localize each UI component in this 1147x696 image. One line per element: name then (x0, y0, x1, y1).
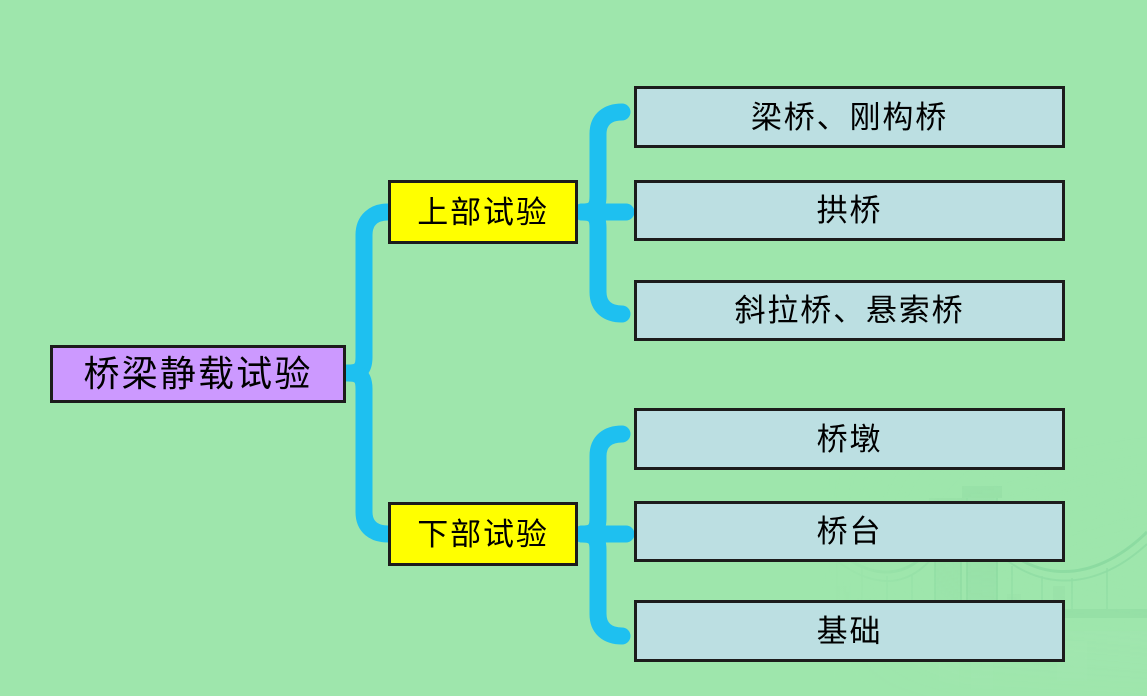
connector-upper-brace-bottom (582, 212, 622, 314)
node-root[interactable]: 桥梁静载试验 (50, 345, 346, 403)
node-leaf-label: 桥台 (817, 516, 883, 547)
node-branch-lower-label: 下部试验 (417, 519, 548, 550)
node-branch-upper[interactable]: 上部试验 (388, 180, 578, 244)
node-leaf-abutment[interactable]: 桥台 (634, 501, 1065, 562)
node-branch-lower[interactable]: 下部试验 (388, 502, 578, 566)
node-leaf-cable-stayed-suspension-bridge[interactable]: 斜拉桥、悬索桥 (634, 280, 1065, 341)
slide-canvas: 桥梁静载试验 上部试验 下部试验 梁桥、刚构桥 拱桥 斜拉桥、悬索桥 桥墩 桥台… (0, 0, 1147, 696)
node-leaf-pier[interactable]: 桥墩 (634, 408, 1065, 470)
node-leaf-foundation[interactable]: 基础 (634, 600, 1065, 662)
connector-root-brace (348, 212, 388, 373)
node-leaf-arch-bridge[interactable]: 拱桥 (634, 180, 1065, 241)
node-leaf-label: 桥墩 (817, 424, 883, 455)
node-leaf-label: 拱桥 (817, 195, 883, 226)
node-leaf-label: 基础 (817, 616, 883, 647)
node-branch-upper-label: 上部试验 (417, 197, 548, 228)
node-leaf-beam-rigid-frame-bridge[interactable]: 梁桥、刚构桥 (634, 86, 1065, 148)
connector-lower-brace-bottom (582, 534, 622, 636)
connector-lower-brace-top (582, 434, 622, 534)
node-leaf-label: 梁桥、刚构桥 (751, 102, 948, 133)
node-leaf-label: 斜拉桥、悬索桥 (734, 295, 964, 326)
connector-upper-brace-top (582, 112, 622, 212)
connector-root-brace-lower (348, 373, 388, 534)
node-root-label: 桥梁静载试验 (84, 356, 313, 392)
